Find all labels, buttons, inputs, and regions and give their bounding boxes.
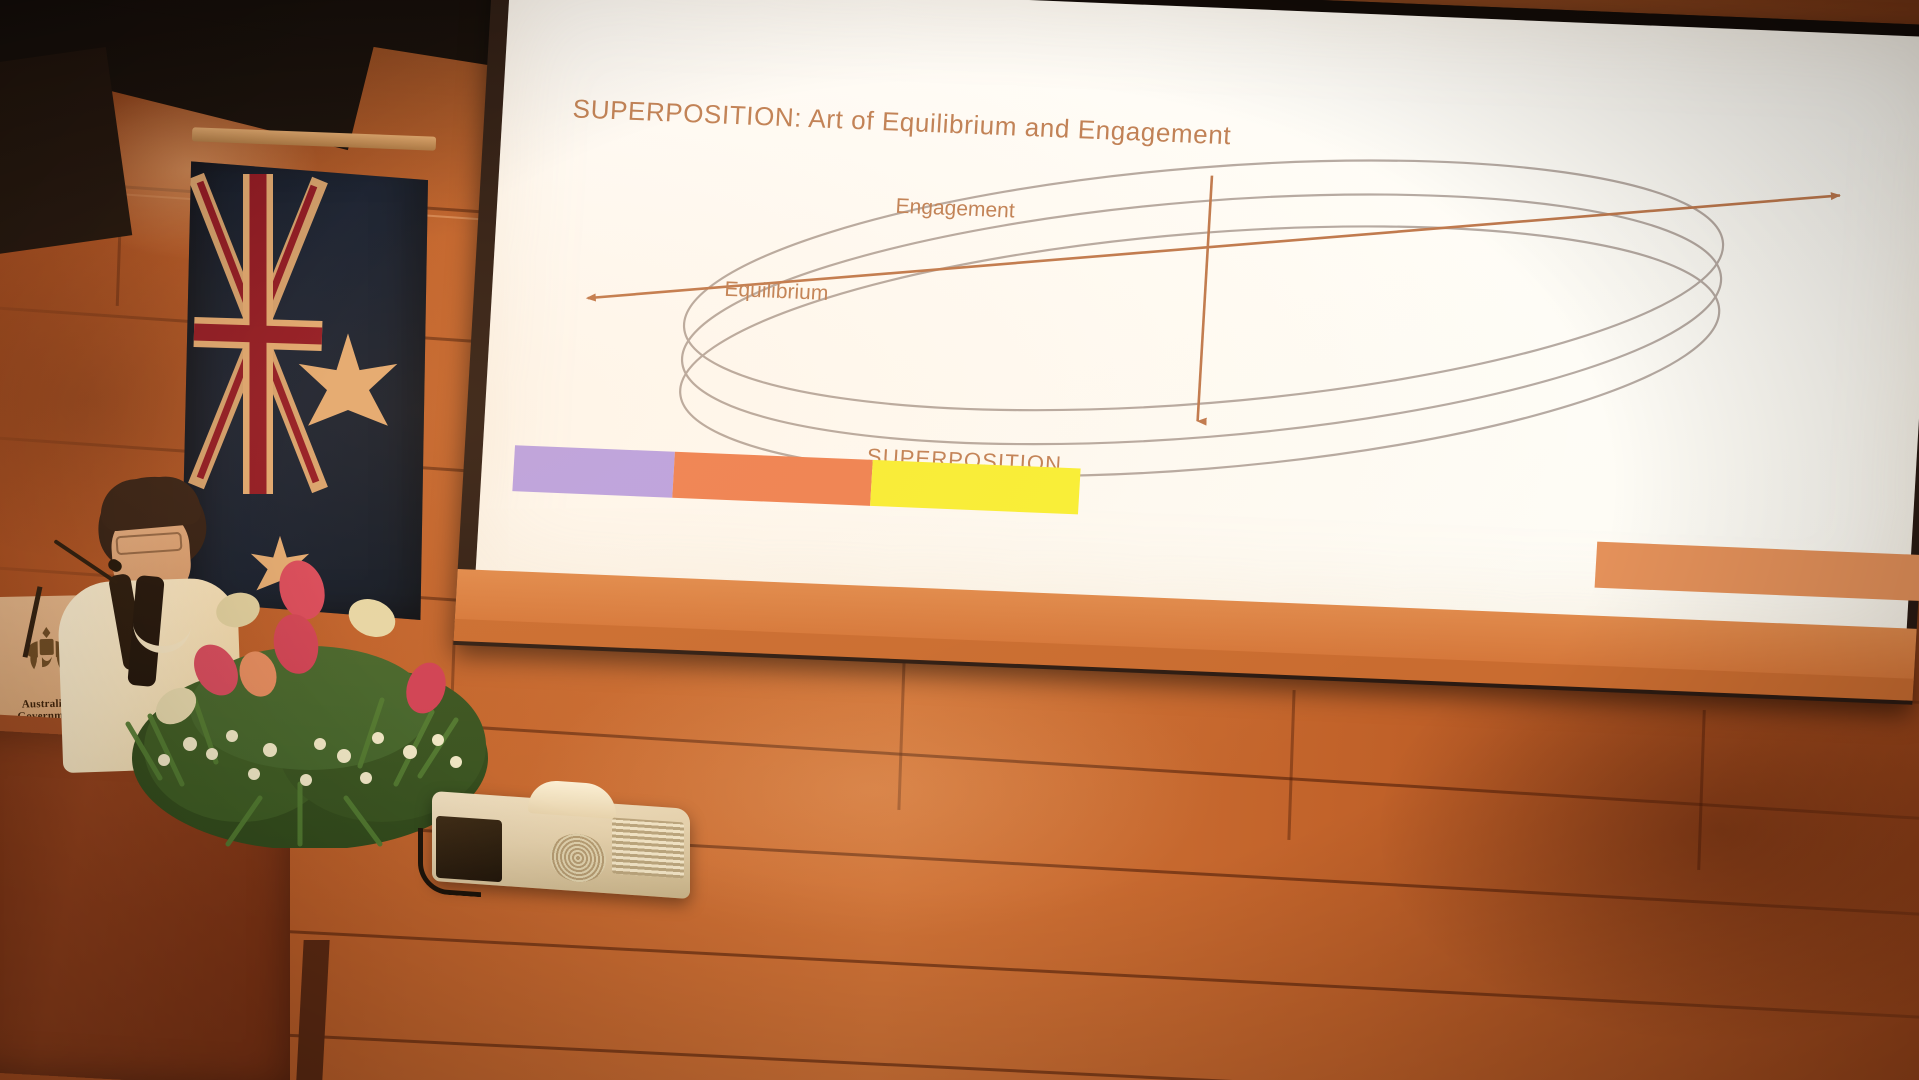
orbit-ellipse-1 [677,126,1731,445]
projector-vent [612,817,684,878]
equilibrium-axis-arrow [588,144,1840,349]
photo-scene: SUPERPOSITION: Art of Equilibrium and En… [0,0,1919,1080]
slide-surface: SUPERPOSITION: Art of Equilibrium and En… [476,0,1919,630]
label-engagement: Engagement [895,195,1015,224]
flower-head [213,588,264,632]
flower-head [343,592,401,643]
block-purple [512,445,675,497]
video-projector [432,800,690,890]
orbit-ellipse-2 [675,160,1729,479]
engagement-axis-arrow [1198,176,1212,422]
block-orange [672,452,873,506]
block-yellow [870,460,1081,514]
label-equilibrium: Equilibrium [724,278,829,306]
flower-head [273,555,332,625]
projection-screen: SUPERPOSITION: Art of Equilibrium and En… [453,0,1919,705]
